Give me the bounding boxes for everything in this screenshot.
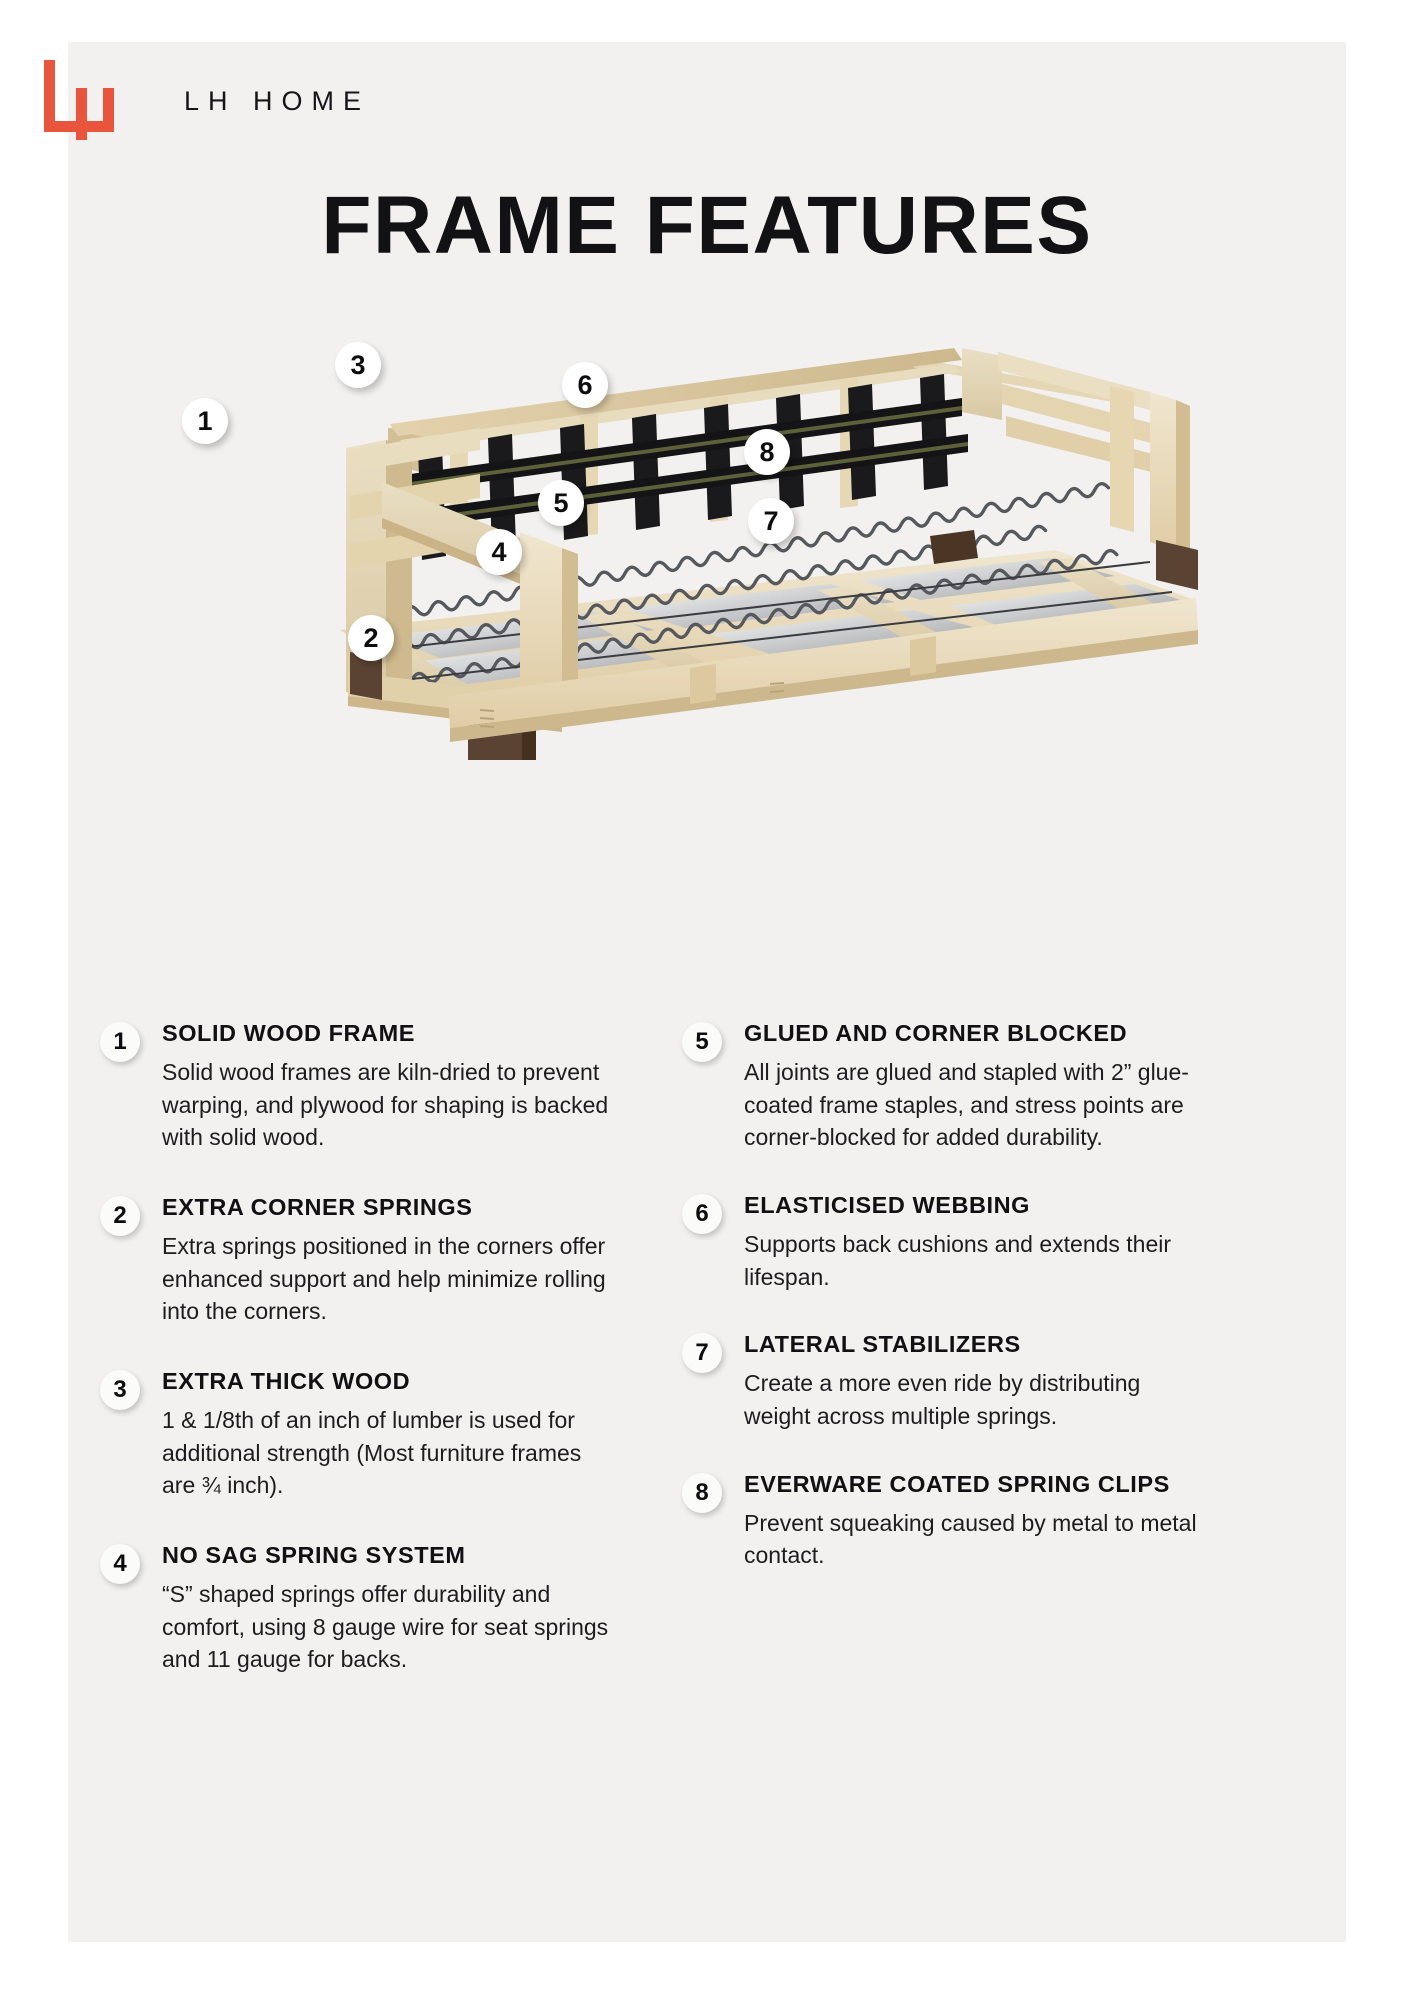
- feature-text: ELASTICISED WEBBING Supports back cushio…: [744, 1192, 1202, 1293]
- feature-number-badge: 8: [682, 1473, 722, 1513]
- feature-text: EXTRA THICK WOOD 1 & 1/8th of an inch of…: [162, 1368, 620, 1502]
- feature-text: NO SAG SPRING SYSTEM “S” shaped springs …: [162, 1542, 620, 1676]
- feature-number-badge: 7: [682, 1333, 722, 1373]
- feature-text: EVERWARE COATED SPRING CLIPS Prevent squ…: [744, 1471, 1202, 1572]
- features-column-left: 1 SOLID WOOD FRAME Solid wood frames are…: [100, 1020, 620, 1676]
- feature-heading: GLUED AND CORNER BLOCKED: [744, 1020, 1202, 1047]
- feature-item: 8 EVERWARE COATED SPRING CLIPS Prevent s…: [682, 1471, 1202, 1572]
- feature-body: Prevent squeaking caused by metal to met…: [744, 1507, 1202, 1572]
- feature-body: Create a more even ride by distributing …: [744, 1367, 1202, 1432]
- features-legend: 1 SOLID WOOD FRAME Solid wood frames are…: [100, 1020, 1340, 1676]
- callout-1: 1: [182, 398, 228, 444]
- feature-item: 3 EXTRA THICK WOOD 1 & 1/8th of an inch …: [100, 1368, 620, 1502]
- callout-4: 4: [476, 529, 522, 575]
- feature-number-badge: 6: [682, 1194, 722, 1234]
- feature-item: 7 LATERAL STABILIZERS Create a more even…: [682, 1331, 1202, 1432]
- feature-number-badge: 2: [100, 1196, 140, 1236]
- callout-2: 2: [348, 615, 394, 661]
- brand-name: LH HOME: [184, 86, 370, 117]
- callout-5: 5: [538, 480, 584, 526]
- feature-body: Solid wood frames are kiln-dried to prev…: [162, 1056, 620, 1154]
- feature-heading: LATERAL STABILIZERS: [744, 1331, 1202, 1358]
- feature-heading: EVERWARE COATED SPRING CLIPS: [744, 1471, 1202, 1498]
- feature-text: EXTRA CORNER SPRINGS Extra springs posit…: [162, 1194, 620, 1328]
- feature-heading: SOLID WOOD FRAME: [162, 1020, 620, 1047]
- feature-item: 4 NO SAG SPRING SYSTEM “S” shaped spring…: [100, 1542, 620, 1676]
- lh-monogram-icon: [44, 60, 128, 140]
- feature-item: 1 SOLID WOOD FRAME Solid wood frames are…: [100, 1020, 620, 1154]
- poster-page: LH HOME FRAME FEATURES: [0, 0, 1414, 2000]
- feature-body: Extra springs positioned in the corners …: [162, 1230, 620, 1328]
- brand-lockup: LH HOME: [44, 60, 464, 160]
- callout-7: 7: [748, 498, 794, 544]
- callout-8: 8: [744, 429, 790, 475]
- feature-body: 1 & 1/8th of an inch of lumber is used f…: [162, 1404, 620, 1502]
- feature-item: 2 EXTRA CORNER SPRINGS Extra springs pos…: [100, 1194, 620, 1328]
- callout-6: 6: [562, 362, 608, 408]
- feature-heading: EXTRA CORNER SPRINGS: [162, 1194, 620, 1221]
- features-column-right: 5 GLUED AND CORNER BLOCKED All joints ar…: [682, 1020, 1202, 1676]
- feature-text: LATERAL STABILIZERS Create a more even r…: [744, 1331, 1202, 1432]
- feature-item: 6 ELASTICISED WEBBING Supports back cush…: [682, 1192, 1202, 1293]
- feature-body: Supports back cushions and extends their…: [744, 1228, 1202, 1293]
- feature-number-badge: 1: [100, 1022, 140, 1062]
- feature-item: 5 GLUED AND CORNER BLOCKED All joints ar…: [682, 1020, 1202, 1154]
- feature-heading: ELASTICISED WEBBING: [744, 1192, 1202, 1219]
- feature-text: GLUED AND CORNER BLOCKED All joints are …: [744, 1020, 1202, 1154]
- feature-number-badge: 3: [100, 1370, 140, 1410]
- feature-number-badge: 5: [682, 1022, 722, 1062]
- feature-heading: EXTRA THICK WOOD: [162, 1368, 620, 1395]
- feature-text: SOLID WOOD FRAME Solid wood frames are k…: [162, 1020, 620, 1154]
- callout-3: 3: [335, 342, 381, 388]
- page-title: FRAME FEATURES: [0, 185, 1414, 267]
- frame-diagram: 1 2 3 4 5 6 7 8: [150, 300, 1270, 760]
- feature-body: All joints are glued and stapled with 2”…: [744, 1056, 1202, 1154]
- sofa-frame-illustration: [150, 300, 1270, 760]
- feature-body: “S” shaped springs offer durability and …: [162, 1578, 620, 1676]
- feature-number-badge: 4: [100, 1544, 140, 1584]
- feature-heading: NO SAG SPRING SYSTEM: [162, 1542, 620, 1569]
